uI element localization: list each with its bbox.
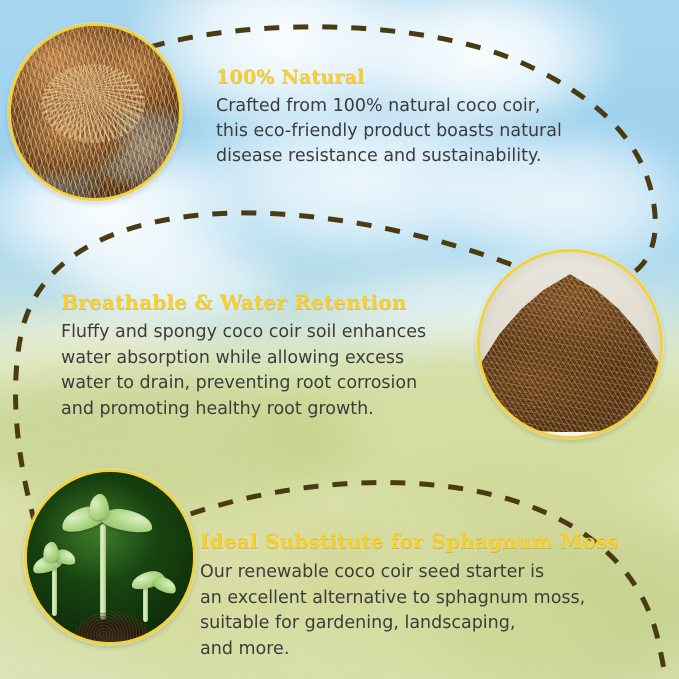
coco-coir-husk-photo xyxy=(8,23,182,201)
feature-block-substitute: Ideal Substitute for Sphagnum Moss Our r… xyxy=(200,529,619,662)
coco-coir-feature-infographic: 100% Natural Crafted from 100% natural c… xyxy=(0,0,679,679)
feature-body-breathable: Fluffy and spongy coco coir soil enhance… xyxy=(61,320,426,422)
coco-peat-pile-photo xyxy=(477,249,663,439)
coir-vignette xyxy=(11,26,179,198)
feature-block-natural: 100% Natural Crafted from 100% natural c… xyxy=(216,66,562,169)
feature-block-breathable: Breathable & Water Retention Fluffy and … xyxy=(61,290,426,422)
feature-heading-substitute: Ideal Substitute for Sphagnum Moss xyxy=(200,529,619,553)
feature-body-substitute: Our renewable coco coir seed starter is … xyxy=(200,560,619,662)
seedlings-photo xyxy=(24,469,196,645)
feature-body-natural: Crafted from 100% natural coco coir, thi… xyxy=(216,94,562,169)
feature-heading-breathable: Breathable & Water Retention xyxy=(61,290,426,314)
feature-heading-natural: 100% Natural xyxy=(216,66,562,88)
peat-vignette xyxy=(480,252,660,436)
